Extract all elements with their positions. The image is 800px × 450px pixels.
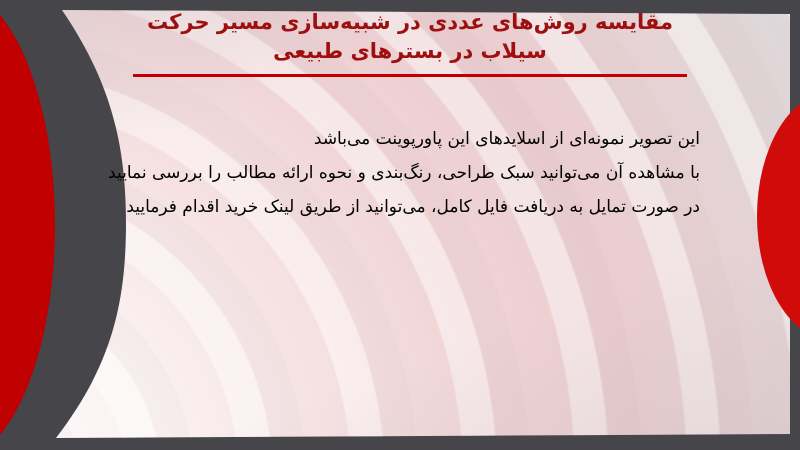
slide-body: این تصویر نمونه‌ای از اسلایدهای این پاور… <box>120 122 700 224</box>
title-line-2: سیلاب در بسترهای طبیعی <box>110 37 710 66</box>
title-line-1: مقایسه روش‌های عددی در شبیه‌سازی مسیر حر… <box>110 8 710 37</box>
slide-title: مقایسه روش‌های عددی در شبیه‌سازی مسیر حر… <box>110 8 710 66</box>
body-line-3: در صورت تمایل به دریافت فایل کامل، می‌تو… <box>120 190 700 224</box>
slide: مقایسه روش‌های عددی در شبیه‌سازی مسیر حر… <box>0 0 800 450</box>
body-line-2: با مشاهده آن می‌توانید سبک طراحی، رنگ‌بن… <box>120 156 700 190</box>
body-line-1: این تصویر نمونه‌ای از اسلایدهای این پاور… <box>120 122 700 156</box>
title-underline-rule <box>133 74 687 77</box>
